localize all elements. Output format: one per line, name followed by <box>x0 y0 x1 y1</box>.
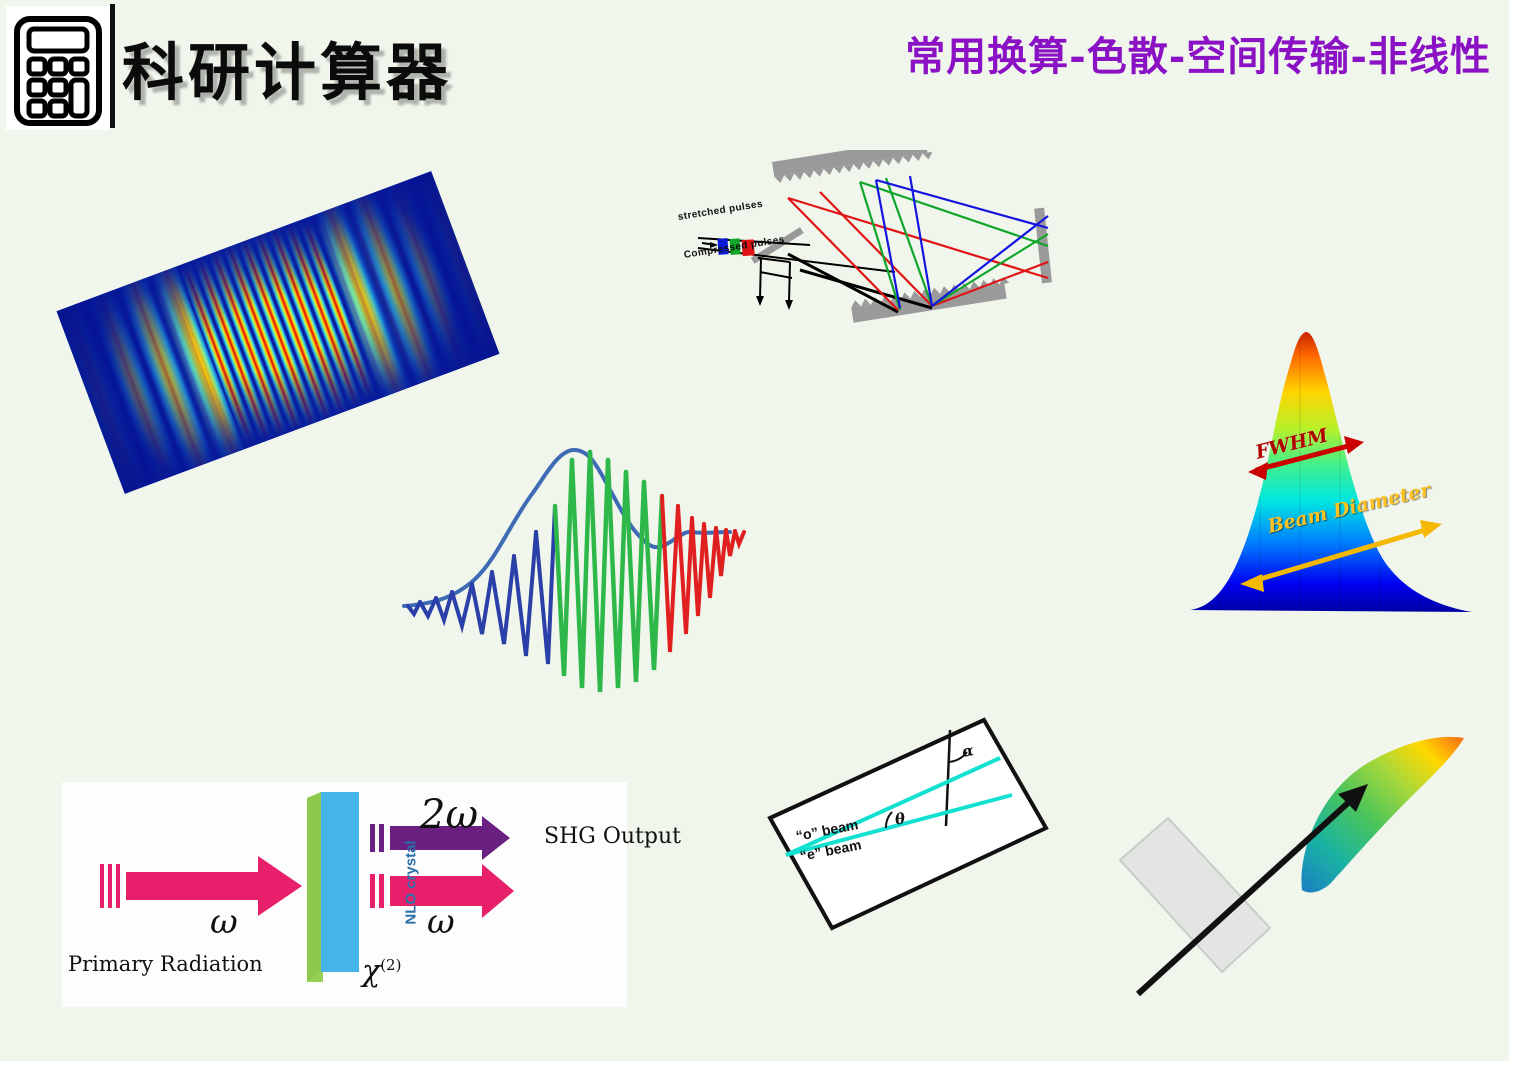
label-omega-input: ω <box>210 902 238 942</box>
compressor-svg <box>660 150 1080 380</box>
birefringence-svg <box>762 700 1054 932</box>
figure-chirped-pulse <box>392 420 762 705</box>
label-chi-two: χ(2) <box>362 954 401 989</box>
label-two-omega: 2ω <box>420 792 478 838</box>
label-nlo-crystal: NLO crystal <box>403 840 420 924</box>
figure-shg-diagram: Primary Radiation ω ω 2ω SHG Output χ(2)… <box>62 782 627 1007</box>
title-divider-rule <box>110 4 115 128</box>
crystal-body <box>321 792 359 972</box>
chirped-pulse-svg <box>392 420 762 705</box>
label-alpha-angle: α <box>961 741 975 761</box>
page-subtitle: 常用换算-色散-空间传输-非线性 <box>905 24 1491 82</box>
beam-surface-fill <box>1180 320 1490 620</box>
slide-root: 科研计算器 常用换算-色散-空间传输-非线性 <box>0 0 1522 1089</box>
slide-canvas: 科研计算器 常用换算-色散-空间传输-非线性 <box>0 0 1509 1061</box>
label-primary-radiation: Primary Radiation <box>68 952 263 976</box>
label-shg-output: SHG Output <box>544 824 681 849</box>
beam-profile-svg <box>1180 320 1490 620</box>
kerr-svg <box>1112 722 1512 1022</box>
figure-kerr-lens-plate <box>1112 722 1512 1022</box>
calculator-icon <box>6 6 110 130</box>
figure-grating-compressor: stretched pulses Compressed pulses <box>660 150 1080 380</box>
page-title: 科研计算器 <box>122 22 452 112</box>
figure-gaussian-beam-profile: FWHM Beam Diameter <box>1180 320 1490 620</box>
input-beam-arrow <box>100 856 302 916</box>
label-omega-output: ω <box>427 902 455 942</box>
figure-birefringent-crystal: “o” beam “e” beam θ α <box>762 700 1054 932</box>
